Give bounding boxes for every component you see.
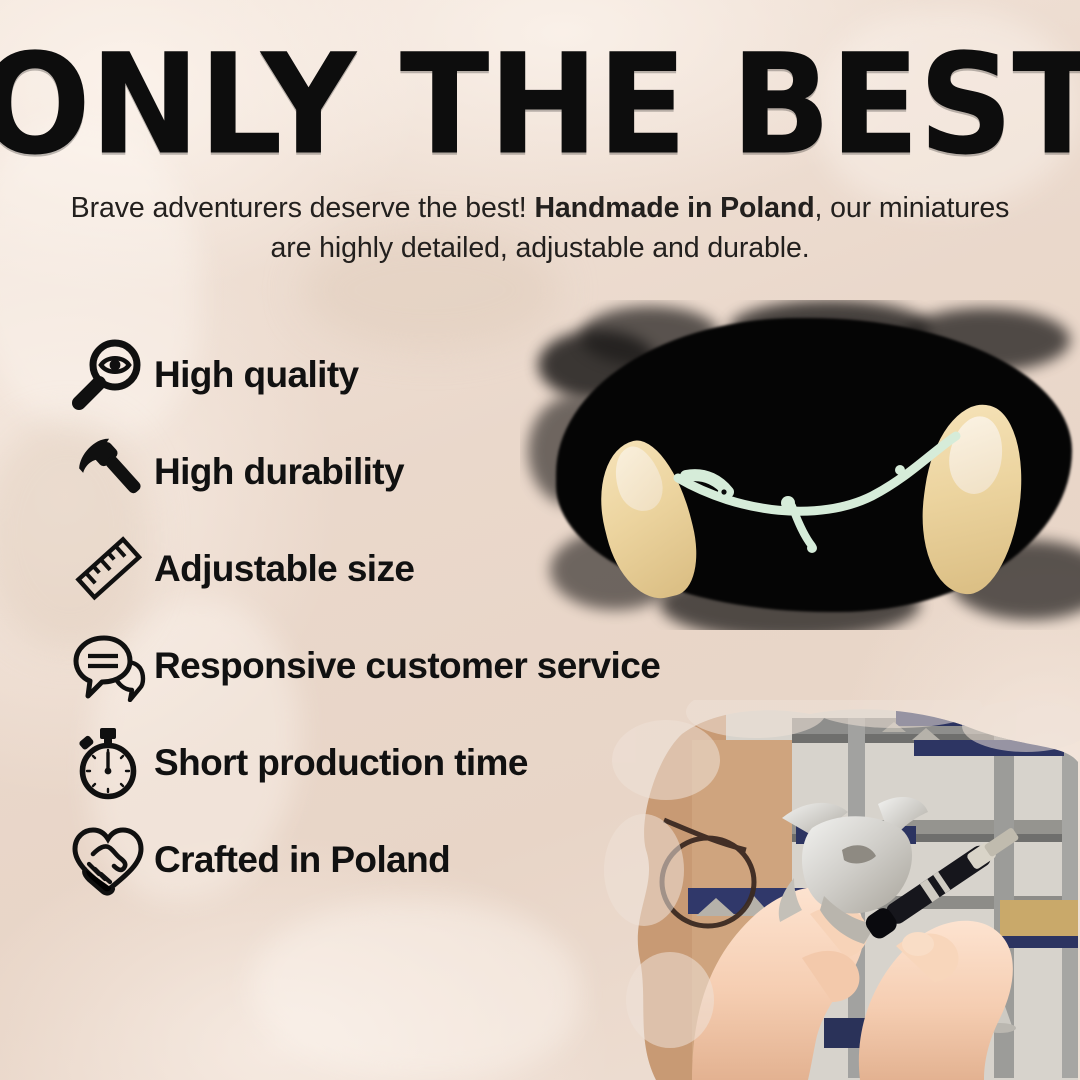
feature-item-crafted-in-poland[interactable]: Crafted in Poland [62,811,822,908]
feature-item-short-production-time[interactable]: Short production time [62,714,822,811]
ruler-icon [62,530,154,608]
feature-item-high-quality[interactable]: High quality [62,326,822,423]
feature-label: High durability [154,453,404,490]
feature-label: Responsive customer service [154,647,660,684]
poster: ONLY THE BEST Brave adventurers deserve … [0,0,1080,1080]
subtitle-lead: Brave adventurers deserve the best! [71,192,527,224]
heart-handshake-icon [62,821,154,899]
feature-item-adjustable-size[interactable]: Adjustable size [62,520,822,617]
speech-bubbles-icon [62,627,154,705]
feature-label: Crafted in Poland [154,841,450,878]
stopwatch-icon [62,724,154,802]
feature-item-responsive-customer-service[interactable]: Responsive customer service [62,617,822,714]
hammer-icon [62,433,154,511]
feature-label: Short production time [154,744,528,781]
page-title: ONLY THE BEST [0,36,1080,175]
feature-label: High quality [154,356,359,393]
subtitle-emphasis: Handmade in Poland [534,192,814,224]
feature-list: High quality High durability [62,326,822,908]
feature-label: Adjustable size [154,550,414,587]
feature-item-high-durability[interactable]: High durability [62,423,822,520]
subtitle: Brave adventurers deserve the best! Hand… [50,188,1030,268]
magnifier-eye-icon [62,336,154,414]
